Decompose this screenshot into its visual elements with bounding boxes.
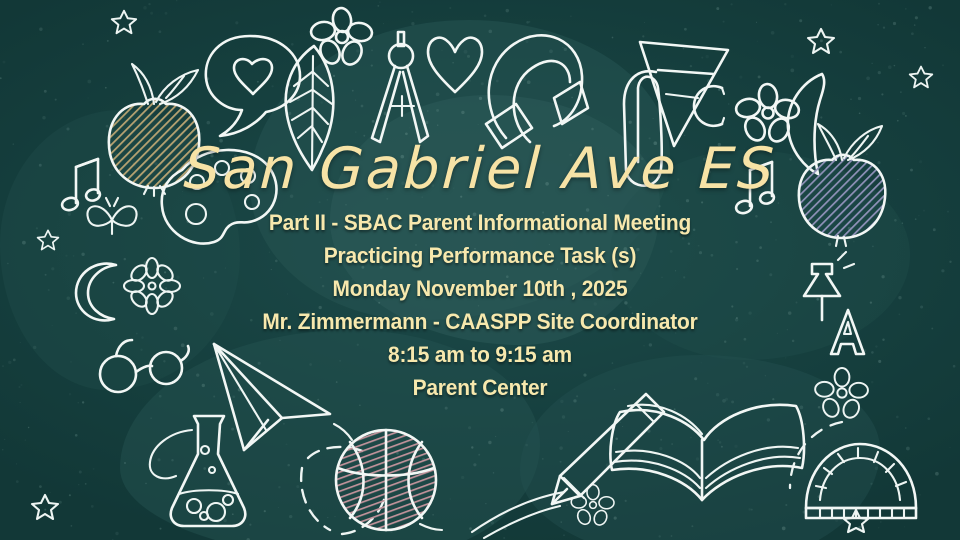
event-line-6: Parent Center <box>34 371 927 404</box>
letter-c-icon <box>688 80 730 132</box>
star-right-edge-icon <box>908 64 934 90</box>
event-line-1: Part II - SBAC Parent Informational Meet… <box>34 206 927 239</box>
star-top-right-icon <box>806 26 836 56</box>
page-title: San Gabriel Ave ES <box>0 140 960 200</box>
event-line-4: Mr. Zimmermann - CAASPP Site Coordinator <box>34 305 927 338</box>
star-top-left-icon <box>110 8 138 36</box>
swoosh-icon <box>468 486 578 540</box>
star-bottom-left-icon <box>30 492 60 522</box>
event-line-5: 8:15 am to 9:15 am <box>34 338 927 371</box>
heart-top-icon <box>424 32 486 96</box>
event-line-2: Practicing Performance Task (s) <box>34 239 927 272</box>
basketball-icon <box>328 418 446 536</box>
flyer-text-block: San Gabriel Ave ES Part II - SBAC Parent… <box>0 140 960 404</box>
event-line-3: Monday November 10th , 2025 <box>34 272 927 305</box>
dashed-arc-icon <box>782 414 852 504</box>
flyer-canvas: San Gabriel Ave ES Part II - SBAC Parent… <box>0 0 960 540</box>
